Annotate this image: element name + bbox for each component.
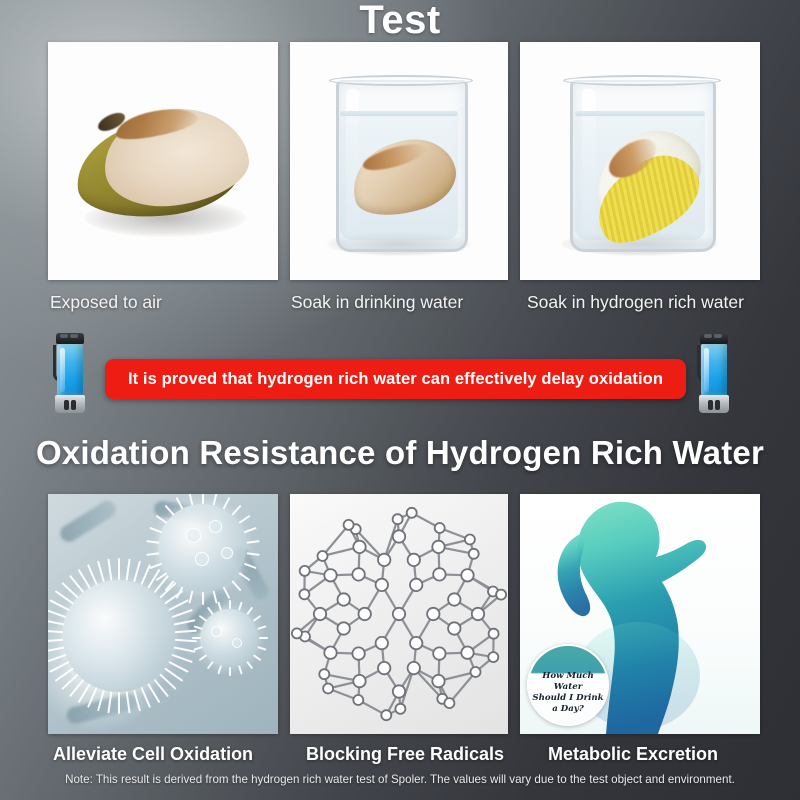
pear-slice-oxidized-photo bbox=[76, 109, 255, 223]
benefit-panel-alleviate-cell-oxidation bbox=[48, 494, 278, 734]
hydrogen-water-bottle-icon-left bbox=[53, 333, 87, 413]
test-caption-drinking-water: Soak in drinking water bbox=[291, 292, 463, 313]
test-panel-drinking-water bbox=[290, 42, 508, 280]
proof-banner-text: It is proved that hydrogen rich water ca… bbox=[128, 370, 663, 389]
benefit-panel-blocking-free-radicals bbox=[290, 494, 508, 734]
page-title: Test bbox=[0, 0, 800, 43]
section-heading-oxidation-resistance: Oxidation Resistance of Hydrogen Rich Wa… bbox=[0, 434, 800, 472]
virus-spikes bbox=[200, 609, 258, 667]
how-much-water-badge: How Much Water Should I Drink a Day? bbox=[527, 644, 609, 726]
glass-of-water-with-fresh-pear-slice-photo bbox=[520, 42, 760, 280]
benefit-caption-alleviate-cell-oxidation: Alleviate Cell Oxidation bbox=[53, 744, 253, 765]
benefit-panel-metabolic-excretion: How Much Water Should I Drink a Day? bbox=[520, 494, 760, 734]
benefit-caption-metabolic-excretion: Metabolic Excretion bbox=[548, 744, 718, 765]
glass-of-water-with-browned-pear-slice-photo bbox=[290, 42, 508, 280]
test-caption-hydrogen-rich-water: Soak in hydrogen rich water bbox=[527, 292, 744, 313]
infographic-page: Test bbox=[0, 0, 800, 800]
test-panel-exposed-to-air bbox=[48, 42, 278, 280]
disclaimer-note: Note: This result is derived from the hy… bbox=[0, 773, 800, 786]
badge-line-1: How Much Water bbox=[529, 671, 607, 693]
hydrogen-water-bottle-icon-right bbox=[697, 333, 731, 413]
badge-line-2: Should I Drink bbox=[529, 693, 607, 704]
virus-spikes bbox=[158, 504, 246, 592]
badge-line-3: a Day? bbox=[529, 704, 607, 715]
test-panel-hydrogen-rich-water bbox=[520, 42, 760, 280]
benefit-caption-blocking-free-radicals: Blocking Free Radicals bbox=[306, 744, 504, 765]
fullerene-molecule-structure-photo bbox=[290, 494, 508, 734]
virus-spikes bbox=[62, 580, 174, 692]
test-caption-exposed-to-air: Exposed to air bbox=[50, 292, 162, 313]
proof-banner: It is proved that hydrogen rich water ca… bbox=[105, 359, 686, 399]
